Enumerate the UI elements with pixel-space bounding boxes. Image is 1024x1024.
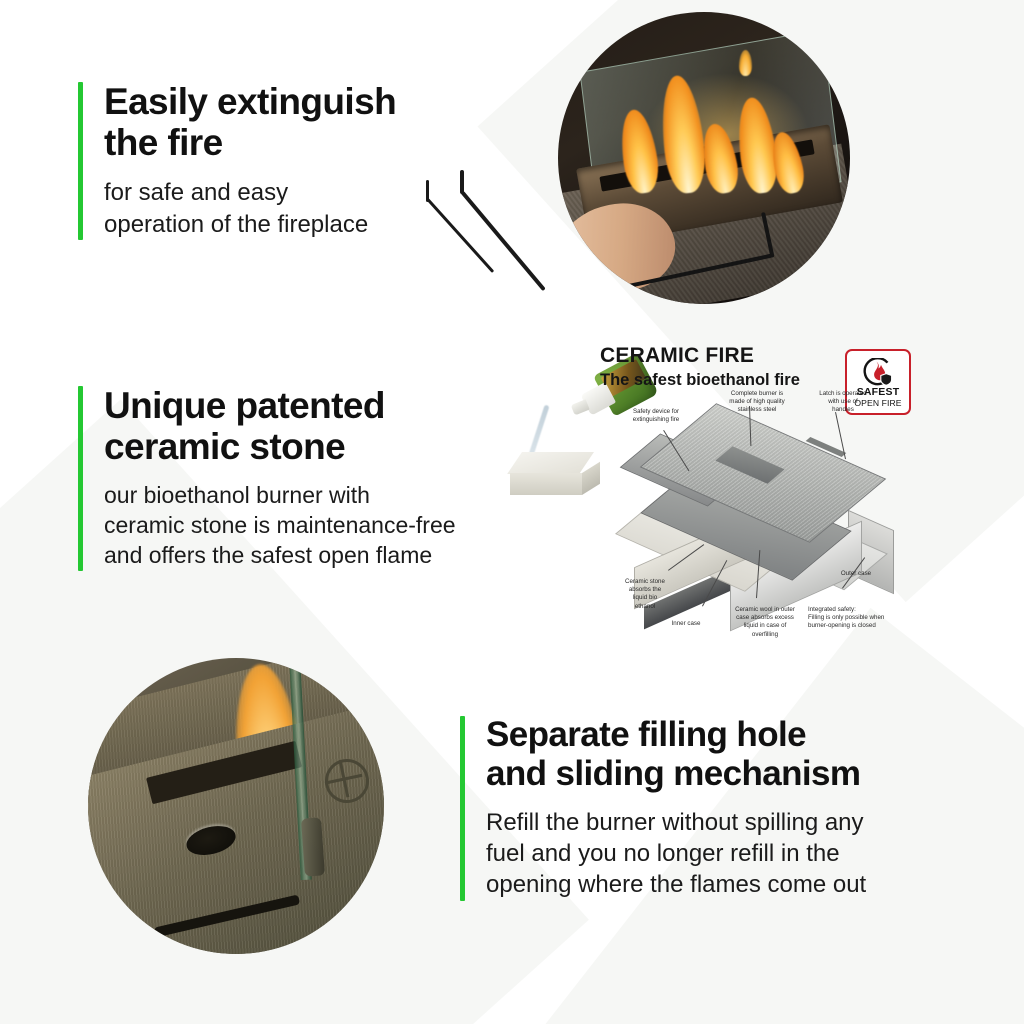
photo-filling-hole-closeup	[88, 658, 384, 954]
brand-subtitle: The safest bioethanol fire	[600, 371, 800, 390]
bottle-tip	[571, 399, 590, 415]
ceramic-stone-block	[522, 452, 600, 496]
feature-block-filling-hole: Separate filling hole and sliding mechan…	[460, 716, 971, 901]
accent-bar-3	[460, 716, 465, 901]
flame-shield-icon	[862, 358, 894, 388]
callout-integrated-safety: Integrated safety: Filling is only possi…	[808, 606, 922, 631]
accent-bar-1	[78, 82, 83, 240]
stone-front-face	[510, 473, 582, 495]
callout-outer-case: Outer case	[828, 570, 884, 578]
accent-bar-2	[78, 386, 83, 571]
callout-safety-device: Safety device for extinguishing fire	[618, 408, 694, 424]
callout-inner-case: Inner case	[658, 620, 714, 628]
callout-latch-handles: Latch is operated with use of handles	[804, 390, 882, 415]
rod-right-diagonal	[460, 191, 545, 291]
glass-clip	[301, 817, 325, 876]
flame-spark	[739, 50, 752, 76]
photo-burner-with-flames	[558, 12, 850, 304]
flame-icon-svg	[862, 358, 894, 388]
stone-side-face	[582, 462, 600, 495]
feature-headline-2: Unique patented ceramic stone	[104, 386, 574, 467]
feature-headline-1: Easily extinguish the fire	[104, 82, 494, 163]
feature-subline-3: Refill the burner without spilling any f…	[486, 807, 971, 901]
feature-block-ceramic-stone: Unique patented ceramic stone our bioeth…	[78, 386, 574, 571]
brand-lockup: CERAMIC FIRE The safest bioethanol fire	[600, 344, 800, 390]
callout-ceramic-wool: Ceramic wool in outer case absorbs exces…	[722, 606, 808, 639]
callout-ceramic-stone: Ceramic stone absorbs the liquid bio eth…	[614, 578, 676, 611]
brand-title: CERAMIC FIRE	[600, 344, 800, 368]
feature-headline-3: Separate filling hole and sliding mechan…	[486, 716, 971, 793]
rod-left-diagonal	[426, 198, 494, 273]
callout-complete-burner: Complete burner is made of high quality …	[716, 390, 798, 415]
feature-subline-2: our bioethanol burner with ceramic stone…	[104, 481, 574, 571]
exploded-burner-diagram: Safety device for extinguishing fire Com…	[612, 392, 942, 647]
infographic-poster: Easily extinguish the fire for safe and …	[0, 0, 1024, 1024]
stone-top-face	[507, 452, 594, 474]
